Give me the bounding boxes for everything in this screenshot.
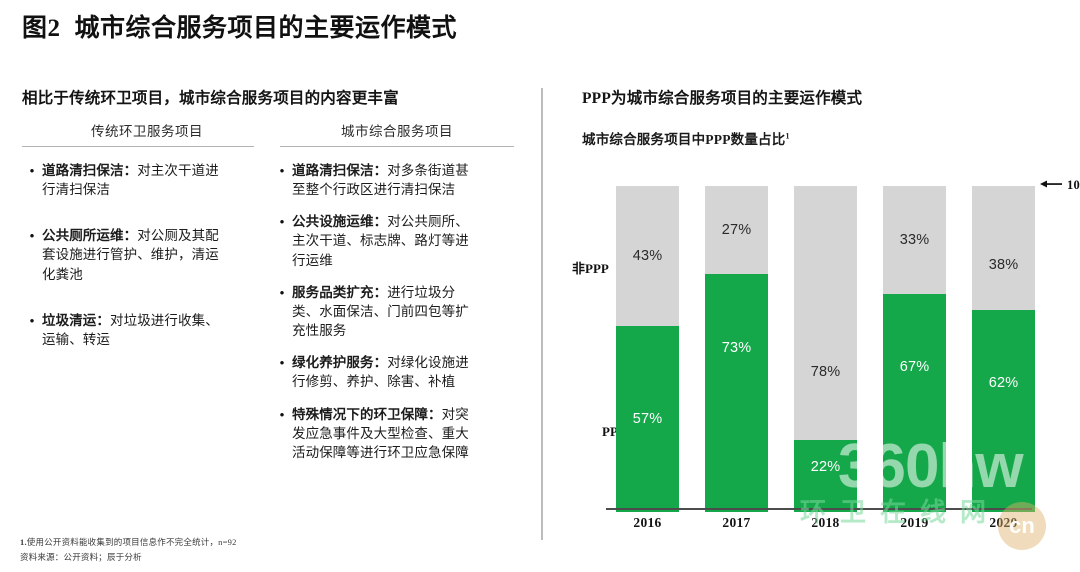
stacked-bar-chart: 非PPP PPP 43% 57% 27% — [560, 182, 1058, 542]
x-axis-label-2016: 2016 — [616, 515, 679, 531]
bar-value-label-nonppp: 27% — [722, 222, 752, 238]
list-item: • 垃圾清运：对垃圾进行收集、运输、转运 — [22, 311, 272, 349]
list-item-term: 公共设施运维： — [292, 214, 387, 229]
x-axis-label-2020: 2020 — [972, 515, 1035, 531]
bar-value-label-ppp: 62% — [989, 375, 1019, 391]
footnotes: 1.使用公开资料能收集到的项目信息作不完全统计，n=92 资料来源：公开资料；辰… — [20, 535, 520, 566]
bullet-list-integrated: • 道路清扫保洁：对多条街道甚至整个行政区进行清扫保洁 • 公共设施运维：对公共… — [272, 161, 522, 462]
figure-number: 图2 — [22, 15, 61, 42]
bar-group-2019[interactable]: 33% 67% — [883, 186, 946, 512]
bar-segment-nonppp[interactable]: 78% — [794, 186, 857, 440]
bar-segment-nonppp[interactable]: 38% — [972, 186, 1035, 310]
column-rule — [22, 146, 254, 147]
footnote-source: 资料来源：公开资料；辰于分析 — [20, 550, 520, 566]
footnote-marker: 1. — [20, 537, 27, 547]
chart-subtitle: 城市综合服务项目中PPP数量占比1 — [582, 128, 1080, 148]
bar-value-label-nonppp: 38% — [989, 257, 1019, 273]
list-item-text: 公共厕所运维：对公厕及其配套设施进行管护、维护，清运化粪池 — [42, 226, 220, 283]
bar-value-label-nonppp: 78% — [811, 364, 841, 380]
bar-value-label-nonppp: 33% — [900, 232, 930, 248]
bar-segment-ppp[interactable]: 73% — [705, 274, 768, 512]
list-item: • 道路清扫保洁：对主次干道进行清扫保洁 — [22, 161, 272, 199]
list-item: • 绿化养护服务：对绿化设施进行修剪、养护、除害、补植 — [272, 353, 522, 391]
bullet-dot-icon: • — [272, 283, 292, 340]
bar-segment-nonppp[interactable]: 33% — [883, 186, 946, 294]
list-item-term: 道路清扫保洁： — [292, 163, 387, 178]
bullet-dot-icon: • — [272, 405, 292, 462]
left-panel-heading: 相比于传统环卫项目，城市综合服务项目的内容更丰富 — [22, 86, 522, 108]
list-item: • 公共厕所运维：对公厕及其配套设施进行管护、维护，清运化粪池 — [22, 226, 272, 283]
chart-axis-line — [606, 508, 1032, 510]
bullet-dot-icon: • — [22, 311, 42, 349]
list-item: • 道路清扫保洁：对多条街道甚至整个行政区进行清扫保洁 — [272, 161, 522, 199]
column-rule — [280, 146, 514, 147]
list-item-text: 道路清扫保洁：对主次干道进行清扫保洁 — [42, 161, 220, 199]
column-integrated: 城市综合服务项目 • 道路清扫保洁：对多条街道甚至整个行政区进行清扫保洁 • 公… — [272, 120, 522, 475]
x-axis-label-2017: 2017 — [705, 515, 768, 531]
bar-segment-nonppp[interactable]: 43% — [616, 186, 679, 326]
column-traditional: 传统环卫服务项目 • 道路清扫保洁：对主次干道进行清扫保洁 • 公共厕所运维：对… — [22, 120, 272, 475]
bar-segment-ppp[interactable]: 22% — [794, 440, 857, 512]
series-label-nonppp: 非PPP — [572, 258, 609, 277]
column-header-integrated: 城市综合服务项目 — [272, 120, 522, 146]
list-item-term: 垃圾清运： — [42, 313, 110, 328]
bar-group-2020[interactable]: 38% 62% — [972, 186, 1035, 512]
list-item-text: 特殊情况下的环卫保障：对突发应急事件及大型检查、重大活动保障等进行环卫应急保障 — [292, 405, 482, 462]
bullet-list-traditional: • 道路清扫保洁：对主次干道进行清扫保洁 • 公共厕所运维：对公厕及其配套设施进… — [22, 161, 272, 349]
annotation-text: 100% — [1067, 178, 1080, 193]
bar-group-2016[interactable]: 43% 57% — [616, 186, 679, 512]
column-header-traditional: 传统环卫服务项目 — [22, 120, 272, 146]
list-item: • 公共设施运维：对公共厕所、主次干道、标志牌、路灯等进行运维 — [272, 212, 522, 269]
bar-value-label-nonppp: 43% — [633, 248, 663, 264]
list-item-text: 公共设施运维：对公共厕所、主次干道、标志牌、路灯等进行运维 — [292, 212, 482, 269]
chart-title: PPP为城市综合服务项目的主要运作模式 — [582, 86, 1080, 108]
bar-value-label-ppp: 22% — [811, 459, 841, 475]
list-item-text: 道路清扫保洁：对多条街道甚至整个行政区进行清扫保洁 — [292, 161, 482, 199]
panel-divider — [541, 88, 543, 540]
slide-page: 图2城市综合服务项目的主要运作模式 相比于传统环卫项目，城市综合服务项目的内容更… — [0, 0, 1080, 572]
bullet-dot-icon: • — [22, 161, 42, 199]
bar-group-2017[interactable]: 27% 73% — [705, 186, 768, 512]
left-panel: 相比于传统环卫项目，城市综合服务项目的内容更丰富 传统环卫服务项目 • 道路清扫… — [22, 86, 522, 516]
right-panel: PPP为城市综合服务项目的主要运作模式 城市综合服务项目中PPP数量占比1 非P… — [582, 86, 1080, 556]
annotation-100-percent: 100% — [1040, 176, 1080, 194]
bar-segment-ppp[interactable]: 67% — [883, 294, 946, 512]
list-item: • 特殊情况下的环卫保障：对突发应急事件及大型检查、重大活动保障等进行环卫应急保… — [272, 405, 522, 462]
list-item-text: 垃圾清运：对垃圾进行收集、运输、转运 — [42, 311, 220, 349]
list-item-term: 绿化养护服务： — [292, 355, 387, 370]
list-item-term: 道路清扫保洁： — [42, 163, 137, 178]
page-title: 图2城市综合服务项目的主要运作模式 — [22, 8, 457, 44]
bar-value-label-ppp: 73% — [722, 340, 752, 356]
chart-subtitle-footnote-marker: 1 — [785, 132, 789, 141]
bar-value-label-ppp: 57% — [633, 411, 663, 427]
footnote-1-text: 使用公开资料能收集到的项目信息作不完全统计，n=92 — [27, 537, 237, 547]
list-item-term: 公共厕所运维： — [42, 228, 137, 243]
bullet-dot-icon: • — [272, 212, 292, 269]
comparison-columns: 传统环卫服务项目 • 道路清扫保洁：对主次干道进行清扫保洁 • 公共厕所运维：对… — [22, 120, 522, 475]
list-item-term: 服务品类扩充： — [292, 285, 387, 300]
list-item-text: 服务品类扩充：进行垃圾分类、水面保洁、门前四包等扩充性服务 — [292, 283, 482, 340]
x-axis-label-2018: 2018 — [794, 515, 857, 531]
x-axis-label-2019: 2019 — [883, 515, 946, 531]
bullet-dot-icon: • — [22, 226, 42, 283]
bar-segment-nonppp[interactable]: 27% — [705, 186, 768, 274]
chart-subtitle-text: 城市综合服务项目中PPP数量占比 — [582, 132, 785, 147]
footnote-1: 1.使用公开资料能收集到的项目信息作不完全统计，n=92 — [20, 535, 520, 551]
left-arrow-icon — [1040, 176, 1062, 194]
list-item: • 服务品类扩充：进行垃圾分类、水面保洁、门前四包等扩充性服务 — [272, 283, 522, 340]
list-item-text: 绿化养护服务：对绿化设施进行修剪、养护、除害、补植 — [292, 353, 482, 391]
bar-segment-ppp[interactable]: 57% — [616, 326, 679, 512]
list-item-term: 特殊情况下的环卫保障： — [292, 407, 442, 422]
bullet-dot-icon: • — [272, 353, 292, 391]
bar-segment-ppp[interactable]: 62% — [972, 310, 1035, 512]
bar-value-label-ppp: 67% — [900, 359, 930, 375]
bar-group-2018[interactable]: 78% 22% — [794, 186, 857, 512]
chart-plot-area: 非PPP PPP 43% 57% 27% — [616, 182, 1036, 512]
bullet-dot-icon: • — [272, 161, 292, 199]
page-title-text: 城市综合服务项目的主要运作模式 — [75, 15, 458, 42]
